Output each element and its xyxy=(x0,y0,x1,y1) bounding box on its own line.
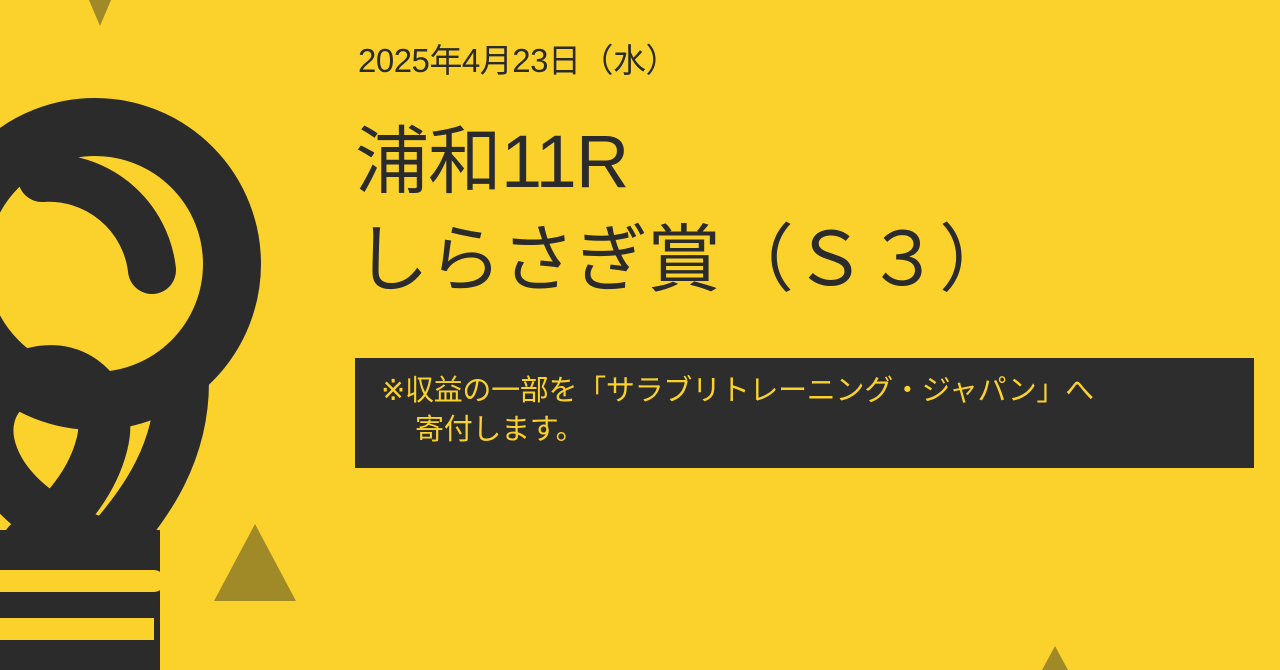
race-title-line-1: 浦和11R xyxy=(355,113,1255,211)
race-date: 2025年4月23日（水） xyxy=(358,44,678,77)
donation-note-box: ※収益の一部を「サラブリトレーニング・ジャパン」へ 寄付します。 xyxy=(355,358,1254,468)
donation-note-line-1: ※収益の一部を「サラブリトレーニング・ジャパン」へ xyxy=(381,372,1242,411)
race-title: 浦和11R しらさぎ賞（Ｓ３） xyxy=(355,113,1255,310)
donation-note-line-2: 寄付します。 xyxy=(381,411,1242,450)
race-title-line-2: しらさぎ賞（Ｓ３） xyxy=(355,211,1255,309)
banner-canvas: 2025年4月23日（水） 浦和11R しらさぎ賞（Ｓ３） ※収益の一部を「サラ… xyxy=(0,0,1280,670)
lightbulb-icon xyxy=(0,0,332,670)
text-column: 2025年4月23日（水） 浦和11R しらさぎ賞（Ｓ３） ※収益の一部を「サラ… xyxy=(355,0,1260,670)
